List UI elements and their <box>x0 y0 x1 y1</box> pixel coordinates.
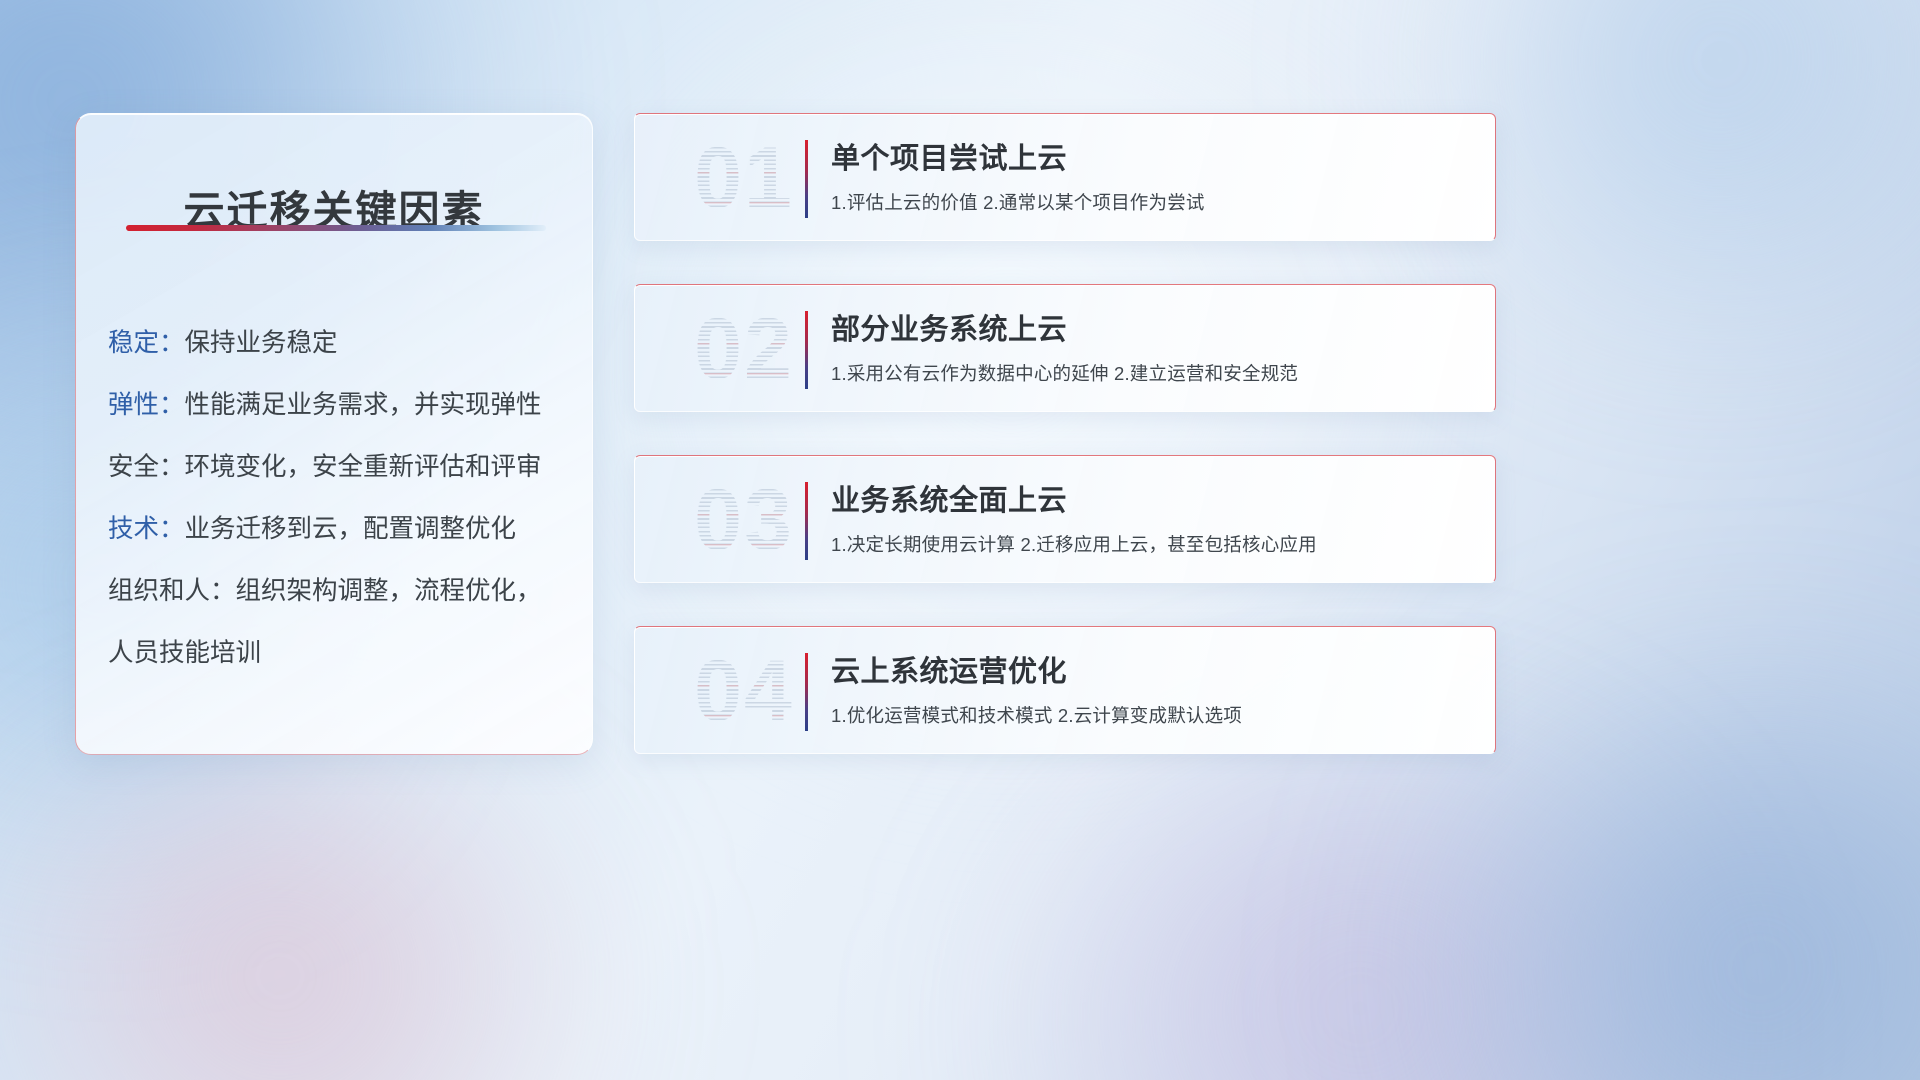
migration-step-card[interactable]: 0404云上系统运营优化1.优化运营模式和技术模式 2.云计算变成默认选项 <box>634 626 1496 754</box>
step-body: 部分业务系统上云1.采用公有云作为数据中心的延伸 2.建立运营和安全规范 <box>831 309 1475 387</box>
factor-text: 组织架构调整，流程优化， <box>236 577 542 605</box>
step-body: 业务系统全面上云1.决定长期使用云计算 2.迁移应用上云，甚至包括核心应用 <box>831 480 1475 558</box>
factor-row: 组织和人：组织架构调整，流程优化， <box>108 560 574 622</box>
step-number-tint-overlay: 01 <box>659 130 829 226</box>
factor-label: 技术： <box>108 515 185 543</box>
factor-label: 稳定： <box>108 329 185 357</box>
factor-row: 稳定：保持业务稳定 <box>108 312 574 374</box>
factor-text: 人员技能培训 <box>108 639 261 667</box>
step-description: 1.评估上云的价值 2.通常以某个项目作为尝试 <box>831 190 1475 216</box>
migration-step-card[interactable]: 0202部分业务系统上云1.采用公有云作为数据中心的延伸 2.建立运营和安全规范 <box>634 284 1496 412</box>
step-title: 业务系统全面上云 <box>831 480 1475 522</box>
step-body: 单个项目尝试上云1.评估上云的价值 2.通常以某个项目作为尝试 <box>831 138 1475 216</box>
step-number-tint-overlay: 02 <box>659 301 829 397</box>
step-description: 1.优化运营模式和技术模式 2.云计算变成默认选项 <box>831 703 1475 729</box>
step-title: 部分业务系统上云 <box>831 309 1475 351</box>
factor-text: 业务迁移到云，配置调整优化 <box>185 515 517 543</box>
step-description: 1.采用公有云作为数据中心的延伸 2.建立运营和安全规范 <box>831 361 1475 387</box>
step-divider-bar <box>805 311 808 389</box>
step-body: 云上系统运营优化1.优化运营模式和技术模式 2.云计算变成默认选项 <box>831 651 1475 729</box>
migration-steps-list: 0101单个项目尝试上云1.评估上云的价值 2.通常以某个项目作为尝试0202部… <box>634 113 1496 754</box>
title-underline-accent <box>126 225 546 231</box>
factor-text: 性能满足业务需求，并实现弹性 <box>185 391 542 419</box>
step-number-tint-overlay: 03 <box>659 472 829 568</box>
key-factors-panel: 云迁移关键因素 稳定：保持业务稳定弹性：性能满足业务需求，并实现弹性安全：环境变… <box>75 113 593 755</box>
factor-row: 人员技能培训 <box>108 622 574 684</box>
step-divider-bar <box>805 140 808 218</box>
migration-step-card[interactable]: 0303业务系统全面上云1.决定长期使用云计算 2.迁移应用上云，甚至包括核心应… <box>634 455 1496 583</box>
step-divider-bar <box>805 482 808 560</box>
migration-step-card[interactable]: 0101单个项目尝试上云1.评估上云的价值 2.通常以某个项目作为尝试 <box>634 113 1496 241</box>
step-title: 云上系统运营优化 <box>831 651 1475 693</box>
factor-row: 技术：业务迁移到云，配置调整优化 <box>108 498 574 560</box>
step-description: 1.决定长期使用云计算 2.迁移应用上云，甚至包括核心应用 <box>831 532 1475 558</box>
step-number-tint-overlay: 04 <box>659 643 829 739</box>
factor-label: 弹性： <box>108 391 185 419</box>
factor-row: 安全：环境变化，安全重新评估和评审 <box>108 436 574 498</box>
key-factors-list: 稳定：保持业务稳定弹性：性能满足业务需求，并实现弹性安全：环境变化，安全重新评估… <box>108 312 574 684</box>
factor-label: 安全： <box>108 453 185 481</box>
factor-text: 保持业务稳定 <box>185 329 338 357</box>
step-divider-bar <box>805 653 808 731</box>
factor-label: 组织和人： <box>108 577 236 605</box>
step-title: 单个项目尝试上云 <box>831 138 1475 180</box>
factor-text: 环境变化，安全重新评估和评审 <box>185 453 542 481</box>
factor-row: 弹性：性能满足业务需求，并实现弹性 <box>108 374 574 436</box>
